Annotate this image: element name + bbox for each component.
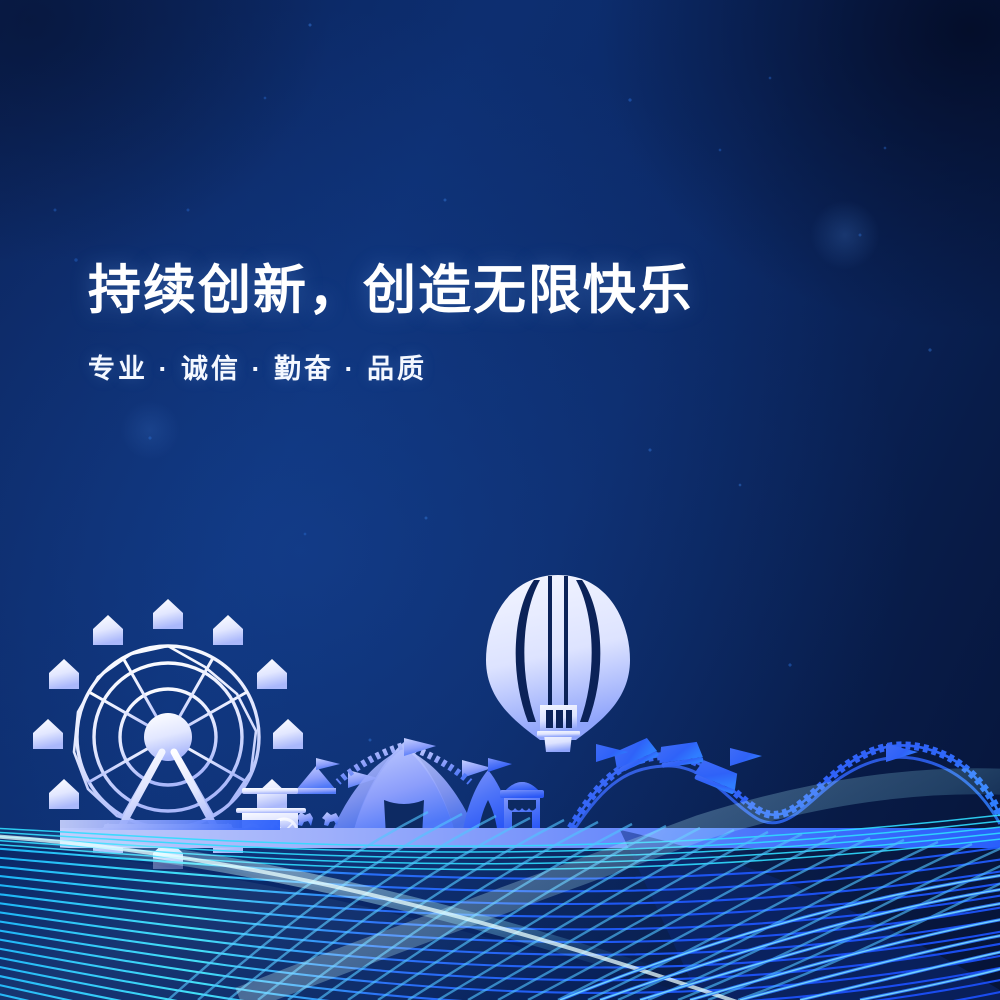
banner-canvas: 持续创新，创造无限快乐 专业 · 诚信 · 勤奋 · 品质 <box>0 0 1000 1000</box>
neon-wave-grid <box>0 0 1000 1000</box>
